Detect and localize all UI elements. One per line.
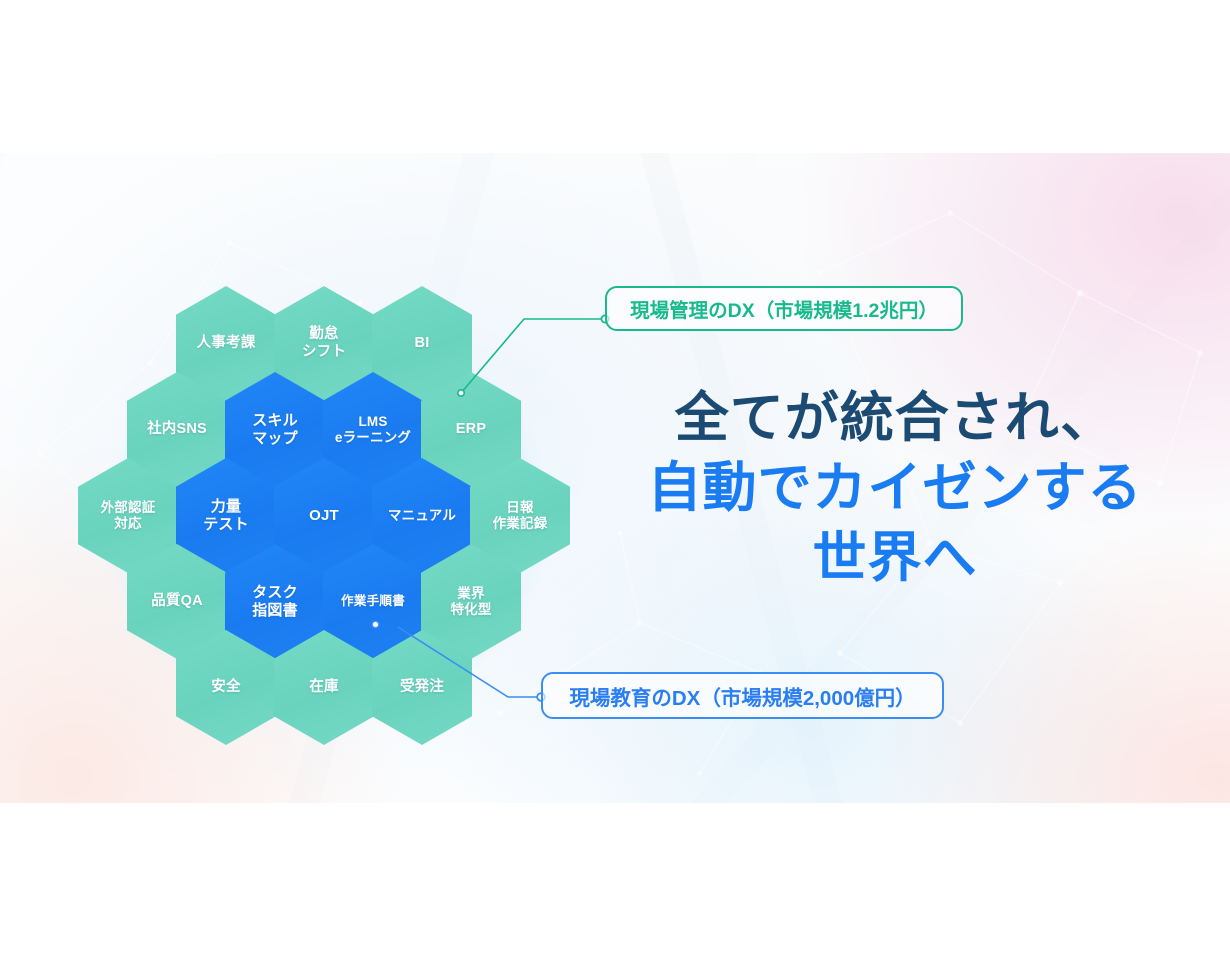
hex-label: 勤怠シフト bbox=[298, 326, 350, 360]
page-title: 全てが統合され、 自動でカイゼンする 世界へ bbox=[610, 383, 1180, 594]
hex-label: OJT bbox=[305, 507, 343, 525]
hex-label: 作業手順書 bbox=[337, 594, 409, 609]
headline-line-3: 世界へ bbox=[610, 523, 1180, 593]
hex-label: マニュアル bbox=[384, 508, 460, 524]
hex-label: スキルマップ bbox=[248, 412, 302, 447]
hex-label: タスク指図書 bbox=[248, 584, 302, 619]
hex-label: 力量テスト bbox=[199, 498, 253, 533]
hex-label: 在庫 bbox=[305, 679, 342, 696]
hexagon-grid: 人事考課 勤怠シフト BI 社内SNS スキルマップ LMSeラーニング ERP… bbox=[66, 272, 586, 762]
headline-line-1: 全てが統合され、 bbox=[610, 383, 1180, 453]
headline-line-2: 自動でカイゼンする bbox=[610, 453, 1180, 523]
hex-label: 受発注 bbox=[396, 679, 448, 696]
hex-label: 外部認証対応 bbox=[97, 500, 160, 532]
hex-label: 社内SNS bbox=[143, 421, 211, 438]
hex-label: 日報作業記録 bbox=[489, 500, 552, 532]
callout-management-dx[interactable]: 現場管理のDX（市場規模1.2兆円） bbox=[605, 286, 963, 331]
hex-label: 人事考課 bbox=[193, 335, 260, 352]
hex-label: 安全 bbox=[207, 679, 244, 696]
callout-label: 現場教育のDX（市場規模2,000億円） bbox=[569, 681, 915, 711]
hex-label: LMSeラーニング bbox=[331, 414, 415, 446]
hex-label: 品質QA bbox=[147, 593, 207, 610]
hex-label: ERP bbox=[452, 421, 490, 438]
hex-label: BI bbox=[411, 335, 434, 352]
hex-label: 業界特化型 bbox=[446, 586, 495, 618]
callout-label: 現場管理のDX（市場規模1.2兆円） bbox=[630, 294, 938, 323]
connector-anchor-dot bbox=[373, 622, 378, 627]
slide-root: 人事考課 勤怠シフト BI 社内SNS スキルマップ LMSeラーニング ERP… bbox=[0, 0, 1230, 960]
callout-education-dx[interactable]: 現場教育のDX（市場規模2,000億円） bbox=[541, 672, 944, 719]
